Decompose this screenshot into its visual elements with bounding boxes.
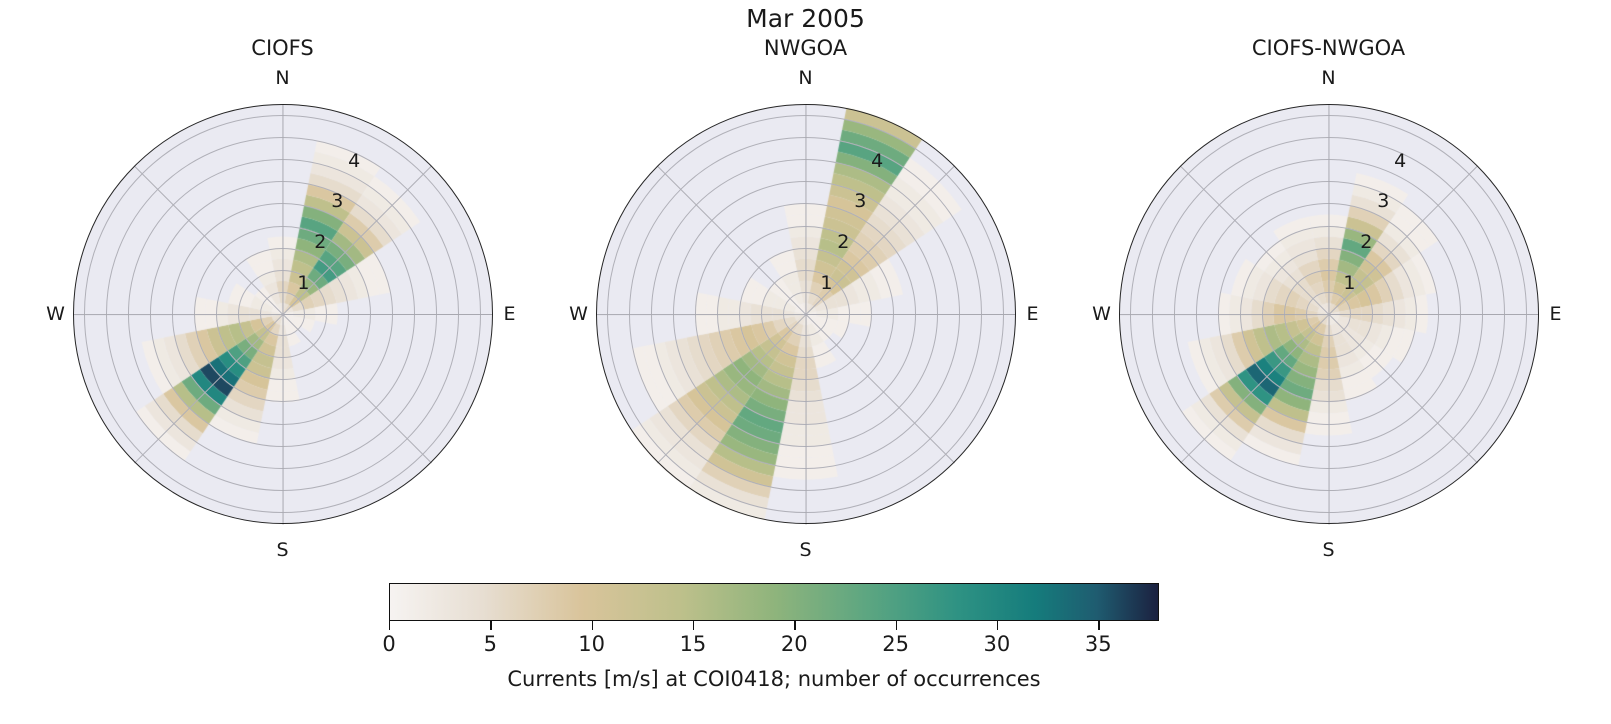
compass-label-n: N [798, 67, 812, 89]
compass-label-e: E [1549, 303, 1561, 325]
colorbar-tick [592, 621, 593, 630]
compass-label-s: S [799, 539, 811, 561]
radial-tick-label: 2 [1360, 231, 1372, 253]
colorbar-tick-label: 25 [882, 632, 909, 656]
colorbar-tick-label: 0 [382, 632, 395, 656]
colorbar-tick [896, 621, 897, 630]
radial-tick-label: 4 [348, 150, 360, 172]
panel-title-ciofs: CIOFS [14, 36, 551, 60]
polar-panel-ciofs-nwgoa: CIOFS-NWGOA NESW1234 [1060, 36, 1597, 581]
polar-axes-nwgoa[interactable]: NESW1234 [537, 62, 1074, 582]
compass-label-e: E [503, 303, 515, 325]
compass-label-s: S [1322, 539, 1334, 561]
colorbar-gradient [389, 583, 1159, 621]
polar-outer-spine [1119, 104, 1539, 524]
polar-axes-ciofs[interactable]: NESW1234 [14, 62, 551, 582]
colorbar-tick [389, 621, 390, 630]
colorbar-tick-label: 5 [484, 632, 497, 656]
radial-tick-label: 4 [1394, 150, 1406, 172]
colorbar-ticks: 05101520253035 [389, 621, 1159, 633]
radial-tick-label: 4 [871, 150, 883, 172]
colorbar[interactable]: 05101520253035 [389, 583, 1159, 621]
compass-label-e: E [1026, 303, 1038, 325]
radial-tick-label: 2 [837, 231, 849, 253]
colorbar-tick [794, 621, 795, 630]
polar-axes-ciofs-nwgoa[interactable]: NESW1234 [1060, 62, 1597, 582]
compass-label-w: W [1092, 303, 1111, 325]
colorbar-tick-label: 35 [1085, 632, 1112, 656]
compass-label-w: W [46, 303, 65, 325]
radial-tick-label: 2 [314, 231, 326, 253]
polar-panel-ciofs: CIOFS NESW1234 [14, 36, 551, 581]
colorbar-tick [490, 621, 491, 630]
compass-label-n: N [275, 67, 289, 89]
polar-outer-spine [73, 104, 493, 524]
figure-canvas: Mar 2005 CIOFS NESW1234 NWGOA NESW1234 C… [0, 0, 1611, 724]
colorbar-tick-label: 30 [984, 632, 1011, 656]
compass-label-n: N [1321, 67, 1335, 89]
colorbar-tick-label: 10 [578, 632, 605, 656]
colorbar-tick [997, 621, 998, 630]
colorbar-tick-label: 15 [680, 632, 707, 656]
panel-title-ciofs-nwgoa: CIOFS-NWGOA [1060, 36, 1597, 60]
panel-title-nwgoa: NWGOA [537, 36, 1074, 60]
colorbar-tick [1098, 621, 1099, 630]
compass-label-s: S [276, 539, 288, 561]
colorbar-tick-label: 20 [781, 632, 808, 656]
polar-outer-spine [596, 104, 1016, 524]
colorbar-label: Currents [m/s] at COI0418; number of occ… [389, 667, 1159, 691]
colorbar-tick [693, 621, 694, 630]
radial-tick-label: 1 [820, 272, 832, 294]
figure-suptitle: Mar 2005 [0, 4, 1611, 33]
polar-panel-nwgoa: NWGOA NESW1234 [537, 36, 1074, 581]
radial-tick-label: 3 [854, 190, 866, 212]
radial-tick-label: 1 [297, 272, 309, 294]
radial-tick-label: 1 [1343, 272, 1355, 294]
radial-tick-label: 3 [331, 190, 343, 212]
compass-label-w: W [569, 303, 588, 325]
radial-tick-label: 3 [1377, 190, 1389, 212]
